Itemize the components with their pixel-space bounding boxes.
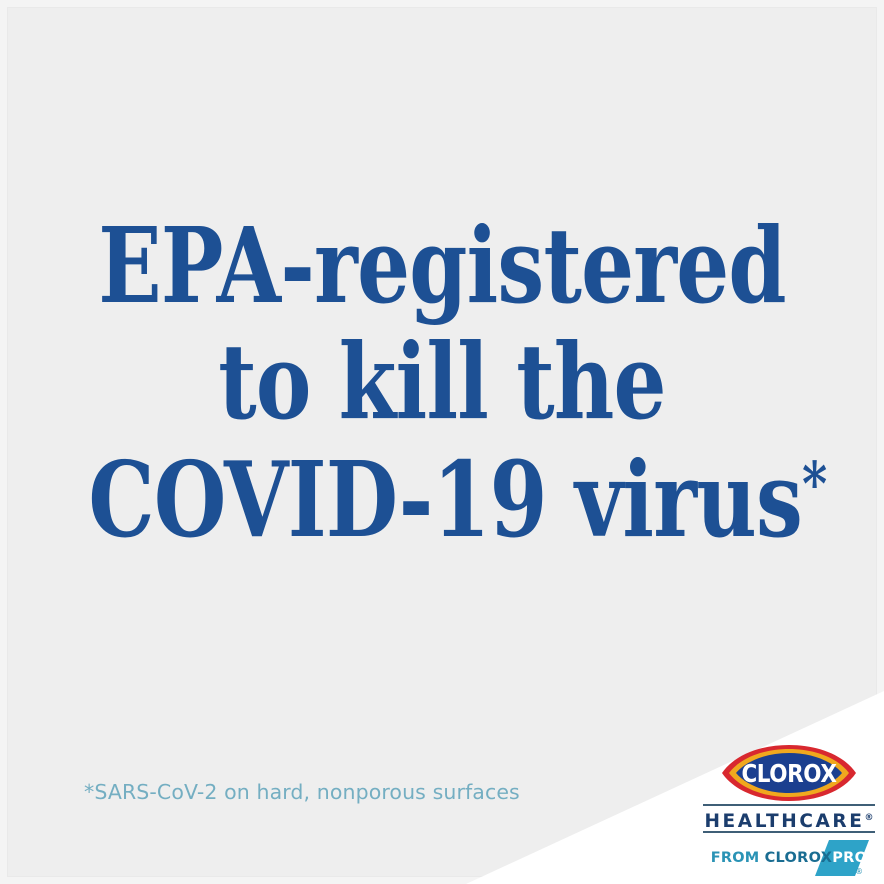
healthcare-wordmark-text: HEALTHCARE [704,811,864,832]
footnote-disclaimer: *SARS-CoV-2 on hard, nonporous surfaces [84,780,520,804]
headline-line-2: to kill the [88,330,795,434]
poster-canvas: EPA-registered to kill the COVID-19 viru… [0,0,884,884]
clorox-diamond-icon: CLOROX [720,744,858,802]
headline-line-1: EPA-registered [88,214,795,318]
cloroxpro-text: FROM CLOROXPRO [703,850,875,866]
healthcare-rule-top [703,804,875,806]
healthcare-wordmark: HEALTHCARE® [703,808,875,832]
clorox-healthcare-logo[interactable]: CLOROX HEALTHCARE® FROM CLOROXPRO ® [700,744,878,880]
cloroxpro-registered-mark: ® [855,867,863,876]
healthcare-rule-bottom [703,831,875,833]
cloroxpro-endorsement: FROM CLOROXPRO ® [703,840,875,880]
headline-asterisk: * [802,449,827,520]
headline-line-3: COVID-19 virus* [88,448,795,552]
cloroxpro-from-label: FROM [711,850,765,866]
healthcare-registered-mark: ® [865,813,874,823]
cloroxpro-clorox-label: CLOROX [765,850,833,866]
svg-text:CLOROX: CLOROX [741,759,836,788]
headline-line-3-text: COVID-19 virus [88,438,802,561]
cloroxpro-pro-label: PRO [832,850,867,866]
page-title: EPA-registered to kill the COVID-19 viru… [0,214,884,564]
healthcare-wordmark-row: HEALTHCARE® [703,804,875,834]
